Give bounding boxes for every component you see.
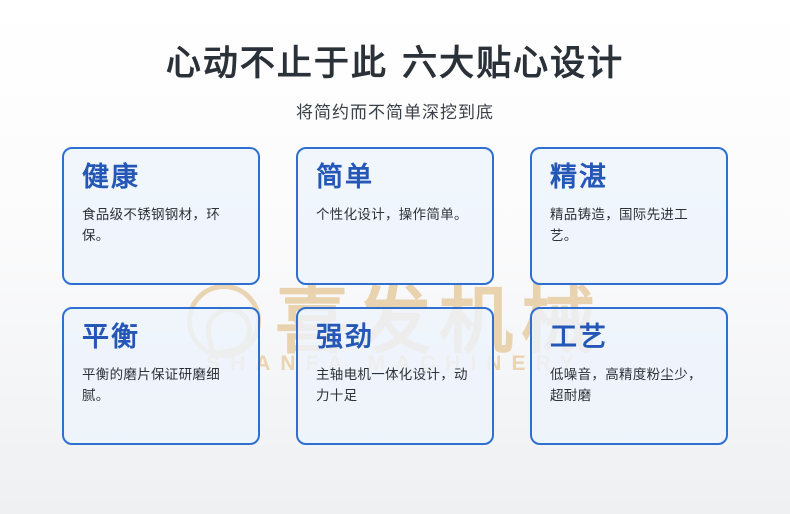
page-subtitle: 将简约而不简单深挖到底 xyxy=(0,98,790,123)
feature-card-title: 平衡 xyxy=(82,323,243,353)
feature-card: 精湛 精品铸造，国际先进工艺。 xyxy=(530,147,728,285)
feature-card-grid: 健康 食品级不锈钢钢材，环保。 简单 个性化设计，操作简单。 精湛 精品铸造，国… xyxy=(62,147,728,445)
feature-card-text: 精品铸造，国际先进工艺。 xyxy=(550,205,711,247)
promo-page: 喜发机械 SHANFA MACHINERY 心动不止于此 六大贴心设计 将简约而… xyxy=(0,0,790,514)
feature-card-title: 精湛 xyxy=(550,163,711,193)
feature-card-text: 食品级不锈钢钢材，环保。 xyxy=(82,205,243,247)
feature-card-text: 低噪音，高精度粉尘少，超耐磨 xyxy=(550,365,711,407)
feature-card-text: 主轴电机一体化设计，动力十足 xyxy=(316,365,477,407)
page-header: 心动不止于此 六大贴心设计 将简约而不简单深挖到底 xyxy=(0,0,790,123)
feature-card-title: 健康 xyxy=(82,163,243,193)
feature-card: 简单 个性化设计，操作简单。 xyxy=(296,147,494,285)
feature-card-text: 平衡的磨片保证研磨细腻。 xyxy=(82,365,243,407)
feature-card-title: 简单 xyxy=(316,163,477,193)
page-title: 心动不止于此 六大贴心设计 xyxy=(0,44,790,84)
feature-card: 强劲 主轴电机一体化设计，动力十足 xyxy=(296,307,494,445)
feature-card-title: 强劲 xyxy=(316,323,477,353)
feature-card-text: 个性化设计，操作简单。 xyxy=(316,205,477,226)
feature-card: 工艺 低噪音，高精度粉尘少，超耐磨 xyxy=(530,307,728,445)
feature-card-title: 工艺 xyxy=(550,323,711,353)
feature-card: 健康 食品级不锈钢钢材，环保。 xyxy=(62,147,260,285)
feature-card: 平衡 平衡的磨片保证研磨细腻。 xyxy=(62,307,260,445)
